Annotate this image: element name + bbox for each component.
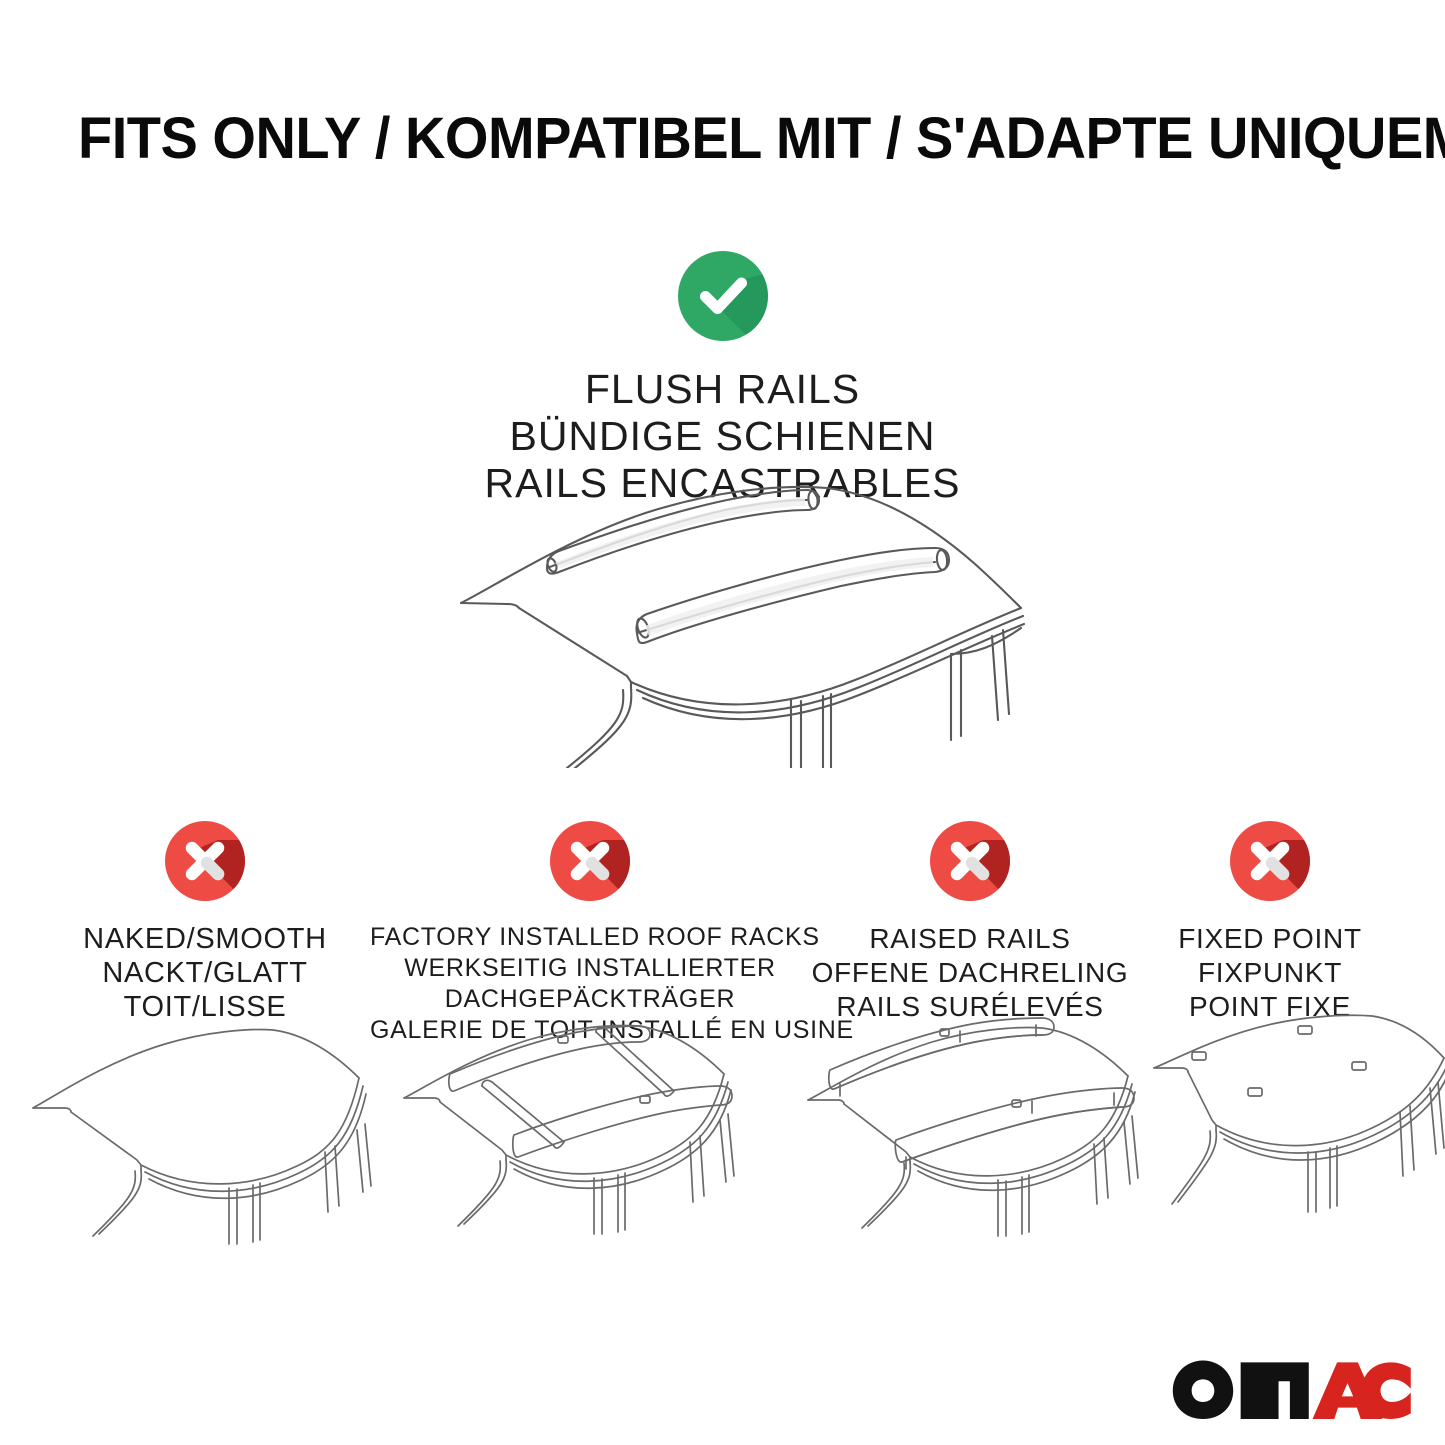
omac-logo (1169, 1347, 1415, 1423)
option-naked-smooth: NAKED/SMOOTH NACKT/GLATT TOIT/LISSE (40, 818, 370, 1024)
option-label-de-2: DACHGEPÄCKTRÄGER (370, 984, 810, 1015)
option-label-en: FIXED POINT (1130, 922, 1410, 956)
option-label-de: NACKT/GLATT (40, 956, 370, 990)
option-labels: NAKED/SMOOTH NACKT/GLATT TOIT/LISSE (40, 922, 370, 1024)
compatibility-infographic: FITS ONLY / KOMPATIBEL MIT / S'ADAPTE UN… (0, 0, 1445, 1445)
x-circle-icon (1227, 818, 1313, 904)
option-labels: FIXED POINT FIXPUNKT POINT FIXE (1130, 922, 1410, 1024)
option-label-en: FACTORY INSTALLED ROOF RACKS (370, 922, 810, 953)
compatible-label-de: BÜNDIGE SCHIENEN (0, 413, 1445, 460)
option-label-en: RAISED RAILS (810, 922, 1130, 956)
option-label-de-1: WERKSEITIG INSTALLIERTER (370, 953, 810, 984)
option-label-de: FIXPUNKT (1130, 956, 1410, 990)
roof-type-illustrations (0, 1012, 1445, 1252)
option-fixed-point: FIXED POINT FIXPUNKT POINT FIXE (1130, 818, 1410, 1024)
check-circle-icon (675, 248, 771, 344)
x-circle-icon (927, 818, 1013, 904)
page-title: FITS ONLY / KOMPATIBEL MIT / S'ADAPTE UN… (78, 108, 1333, 170)
car-roof-factory-rack-diagram (398, 1012, 773, 1252)
compatible-label-en: FLUSH RAILS (0, 366, 1445, 413)
option-label-de: OFFENE DACHRELING (810, 956, 1130, 990)
car-roof-naked-smooth-diagram (25, 1012, 385, 1252)
car-roof-flush-rails-diagram (455, 468, 1025, 768)
option-labels: RAISED RAILS OFFENE DACHRELING RAILS SUR… (810, 922, 1130, 1024)
x-circle-icon (162, 818, 248, 904)
option-raised-rails: RAISED RAILS OFFENE DACHRELING RAILS SUR… (810, 818, 1130, 1024)
car-roof-fixed-point-diagram (1148, 1012, 1445, 1252)
option-label-en: NAKED/SMOOTH (40, 922, 370, 956)
car-roof-raised-rails-diagram (800, 1012, 1175, 1252)
x-circle-icon (547, 818, 633, 904)
